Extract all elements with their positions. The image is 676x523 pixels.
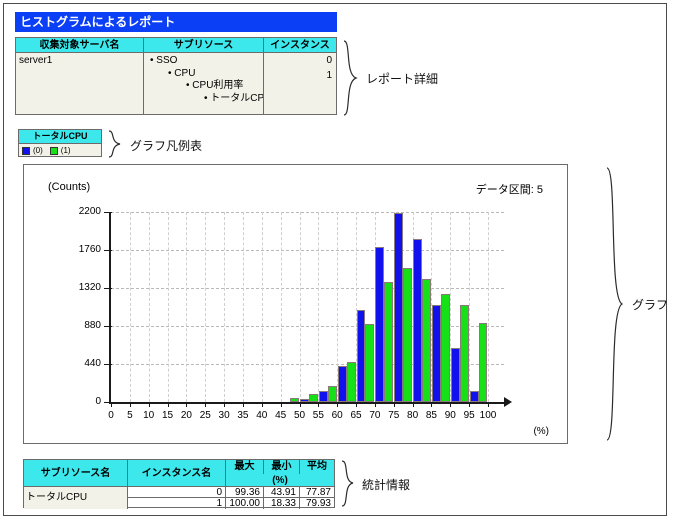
tree-label-cpu-usage: CPU利用率 — [192, 80, 243, 91]
histogram-bar — [413, 239, 422, 402]
bullet-icon: • — [168, 68, 172, 79]
table-row: 0 99.36 43.91 77.87 — [128, 487, 334, 498]
legend-items: (0) (1) — [19, 144, 101, 157]
histogram-bar — [403, 268, 412, 402]
cell-subresource-name: トータルCPU — [24, 487, 128, 509]
gridline-vertical — [262, 212, 263, 402]
cell-avg: 77.87 — [300, 487, 334, 498]
stats-body: トータルCPU 0 99.36 43.91 77.87 1 100.00 18.… — [24, 487, 334, 509]
x-axis-tick — [431, 402, 432, 407]
x-axis-arrow-icon — [504, 397, 512, 407]
x-axis-tick-label: 25 — [200, 410, 211, 421]
x-axis-tick — [488, 402, 489, 407]
brace-detail — [342, 40, 360, 116]
y-axis — [109, 212, 111, 404]
x-axis-tick — [262, 402, 263, 407]
table-row: server1 • SSO • CPU • CPU利用率 • トータルCPU 0… — [16, 53, 336, 114]
y-axis-tick-label: 880 — [84, 320, 101, 331]
y-axis-tick-label: 2200 — [79, 206, 101, 217]
x-axis-tick-label: 75 — [388, 410, 399, 421]
col-header-avg: 平均 — [300, 460, 334, 474]
x-axis-tick — [450, 402, 451, 407]
cell-avg: 79.93 — [300, 498, 334, 509]
server-name: server1 — [16, 53, 143, 66]
legend-label-instance-1: (1) — [61, 146, 71, 155]
cell-min: 18.33 — [264, 498, 300, 509]
col-header-max: 最大 — [226, 460, 264, 474]
report-detail-table: 収集対象サーバ名 サブリソース インスタンス server1 • SSO • C… — [15, 37, 337, 115]
bin-size-label: データ区間: 5 — [476, 181, 543, 197]
x-axis-tick — [375, 402, 376, 407]
legend-title: トータルCPU — [19, 130, 101, 144]
x-axis-tick-label: 20 — [181, 410, 192, 421]
cell-min: 43.91 — [264, 487, 300, 498]
y-axis-tick — [104, 250, 112, 251]
x-axis-tick — [186, 402, 187, 407]
histogram-bar — [432, 305, 441, 402]
x-axis-tick-label: 90 — [445, 410, 456, 421]
histogram-bar — [451, 348, 460, 402]
stats-header-row-top: 最大 最小 平均 — [226, 460, 334, 474]
stats-rows: 0 99.36 43.91 77.87 1 100.00 18.33 79.93 — [128, 487, 334, 509]
x-axis-tick-label: 45 — [275, 410, 286, 421]
histogram-bar — [394, 213, 403, 402]
col-header-instance: インスタンス — [264, 38, 336, 53]
plot-area: 0440880132017602200051015202530354045505… — [109, 212, 504, 404]
y-axis-tick-label: 0 — [95, 396, 101, 407]
histogram-bar — [479, 323, 488, 402]
subresource-tree: • SSO • CPU • CPU利用率 • トータルCPU — [144, 53, 263, 105]
histogram-bar — [290, 398, 299, 402]
x-axis-tick-label: 65 — [350, 410, 361, 421]
col-header-instance-name: インスタンス名 — [128, 460, 226, 487]
gridline-vertical — [318, 212, 319, 402]
x-axis-tick-label: 5 — [127, 410, 133, 421]
x-axis-tick-label: 40 — [256, 410, 267, 421]
x-axis-tick — [130, 402, 131, 407]
x-axis-tick-label: 80 — [407, 410, 418, 421]
annotation-detail: レポート詳細 — [366, 70, 438, 87]
x-axis-tick-label: 100 — [480, 410, 497, 421]
bullet-icon: • — [150, 55, 154, 66]
stats-numeric-headers: 最大 最小 平均 (%) — [226, 460, 334, 487]
y-axis-tick-label: 1320 — [79, 282, 101, 293]
instance-value-0: 0 — [264, 53, 336, 68]
x-axis-tick — [111, 402, 112, 407]
y-axis-tick-label: 1760 — [79, 244, 101, 255]
table-row: 1 100.00 18.33 79.93 — [128, 498, 334, 509]
histogram-bar — [319, 391, 328, 402]
gridline-vertical — [130, 212, 131, 402]
y-axis-tick-label: 440 — [84, 358, 101, 369]
gridline-vertical — [469, 212, 470, 402]
gridline-vertical — [300, 212, 301, 402]
x-axis-tick — [224, 402, 225, 407]
cell-max: 99.36 — [226, 487, 264, 498]
histogram-bar — [384, 282, 393, 402]
x-axis-tick — [469, 402, 470, 407]
x-axis-tick-label: 10 — [143, 410, 154, 421]
histogram-chart: (Counts) データ区間: 5 (%) 044088013201760220… — [23, 164, 568, 444]
histogram-bar — [365, 324, 374, 402]
histogram-bar — [470, 391, 479, 402]
x-axis-tick — [394, 402, 395, 407]
histogram-bar — [328, 386, 337, 402]
report-page: ヒストグラムによるレポート 収集対象サーバ名 サブリソース インスタンス ser… — [3, 3, 667, 516]
histogram-bar — [375, 247, 384, 402]
statistics-table: サブリソース名 インスタンス名 最大 最小 平均 (%) トータルCPU 0 9… — [23, 459, 335, 508]
x-axis-tick-label: 55 — [313, 410, 324, 421]
bullet-icon: • — [204, 93, 208, 104]
col-header-subresource: サブリソース — [144, 38, 264, 53]
gridline-vertical — [168, 212, 169, 402]
gridline-vertical — [488, 212, 489, 402]
x-axis-tick — [300, 402, 301, 407]
y-axis-tick — [104, 212, 112, 213]
col-header-min: 最小 — [264, 460, 300, 474]
histogram-bar — [347, 362, 356, 402]
cell-instance-name: 0 — [128, 487, 226, 498]
x-axis-tick — [413, 402, 414, 407]
y-axis-tick — [104, 326, 112, 327]
legend-swatch-instance-0 — [22, 147, 30, 155]
legend-swatch-instance-1 — [50, 147, 58, 155]
bullet-icon: • — [186, 80, 190, 91]
tree-node-level0: • SSO — [144, 55, 263, 68]
x-axis-tick-label: 60 — [332, 410, 343, 421]
x-axis-tick — [318, 402, 319, 407]
x-axis-tick — [337, 402, 338, 407]
x-axis-tick — [205, 402, 206, 407]
x-axis-tick — [356, 402, 357, 407]
cell-subresource-tree: • SSO • CPU • CPU利用率 • トータルCPU — [144, 53, 264, 114]
tree-node-level2: • CPU利用率 — [144, 80, 263, 93]
y-axis-tick — [104, 288, 112, 289]
histogram-bar — [357, 310, 366, 402]
x-axis-tick-label: 70 — [369, 410, 380, 421]
col-header-server: 収集対象サーバ名 — [16, 38, 144, 53]
x-axis-tick-label: 85 — [426, 410, 437, 421]
histogram-bar — [338, 366, 347, 402]
tree-node-level3: • トータルCPU — [144, 93, 263, 106]
instance-value-1: 1 — [264, 68, 336, 83]
x-axis-tick — [168, 402, 169, 407]
histogram-bar — [441, 294, 450, 402]
annotation-legend: グラフ凡例表 — [130, 137, 202, 154]
gridline-vertical — [224, 212, 225, 402]
gridline-horizontal — [111, 212, 504, 213]
stats-header-row: サブリソース名 インスタンス名 最大 最小 平均 (%) — [24, 460, 334, 487]
cell-max: 100.00 — [226, 498, 264, 509]
brace-graph — [604, 167, 624, 441]
cell-server: server1 — [16, 53, 144, 114]
annotation-graph: グラフ — [632, 296, 668, 313]
gridline-vertical — [205, 212, 206, 402]
table-header-row: 収集対象サーバ名 サブリソース インスタンス — [16, 38, 336, 53]
x-axis-tick-label: 95 — [464, 410, 475, 421]
col-header-unit: (%) — [226, 474, 334, 487]
brace-stats — [340, 460, 356, 507]
cell-instance-name: 1 — [128, 498, 226, 509]
x-axis-tick — [281, 402, 282, 407]
legend-label-instance-0: (0) — [33, 146, 43, 155]
x-axis-tick-label: 15 — [162, 410, 173, 421]
gridline-vertical — [149, 212, 150, 402]
x-axis-tick — [243, 402, 244, 407]
histogram-bar — [300, 399, 309, 402]
x-axis-tick-label: 0 — [108, 410, 114, 421]
tree-label-cpu: CPU — [174, 68, 195, 79]
gridline-horizontal — [111, 250, 504, 251]
x-axis-unit-label: (%) — [533, 426, 549, 437]
x-axis-tick-label: 50 — [294, 410, 305, 421]
gridline-vertical — [243, 212, 244, 402]
gridline-horizontal — [111, 288, 504, 289]
x-axis-tick-label: 30 — [219, 410, 230, 421]
y-axis-tick — [104, 364, 112, 365]
x-axis-tick-label: 35 — [237, 410, 248, 421]
histogram-bar — [460, 305, 469, 402]
brace-legend — [107, 130, 123, 158]
graph-legend-table: トータルCPU (0) (1) — [18, 129, 102, 157]
stats-header-row-unit: (%) — [226, 474, 334, 487]
tree-label-total-cpu: トータルCPU — [210, 93, 264, 104]
histogram-bar — [422, 279, 431, 402]
histogram-bar — [309, 394, 318, 402]
y-axis-unit-label: (Counts) — [48, 181, 90, 193]
cell-instances: 0 1 — [264, 53, 336, 114]
tree-label-sso: SSO — [156, 55, 177, 66]
gridline-vertical — [186, 212, 187, 402]
tree-node-level1: • CPU — [144, 68, 263, 81]
page-title: ヒストグラムによるレポート — [15, 12, 337, 32]
col-header-subresource-name: サブリソース名 — [24, 460, 128, 487]
gridline-vertical — [281, 212, 282, 402]
annotation-stats: 統計情報 — [362, 476, 410, 493]
x-axis-tick — [149, 402, 150, 407]
